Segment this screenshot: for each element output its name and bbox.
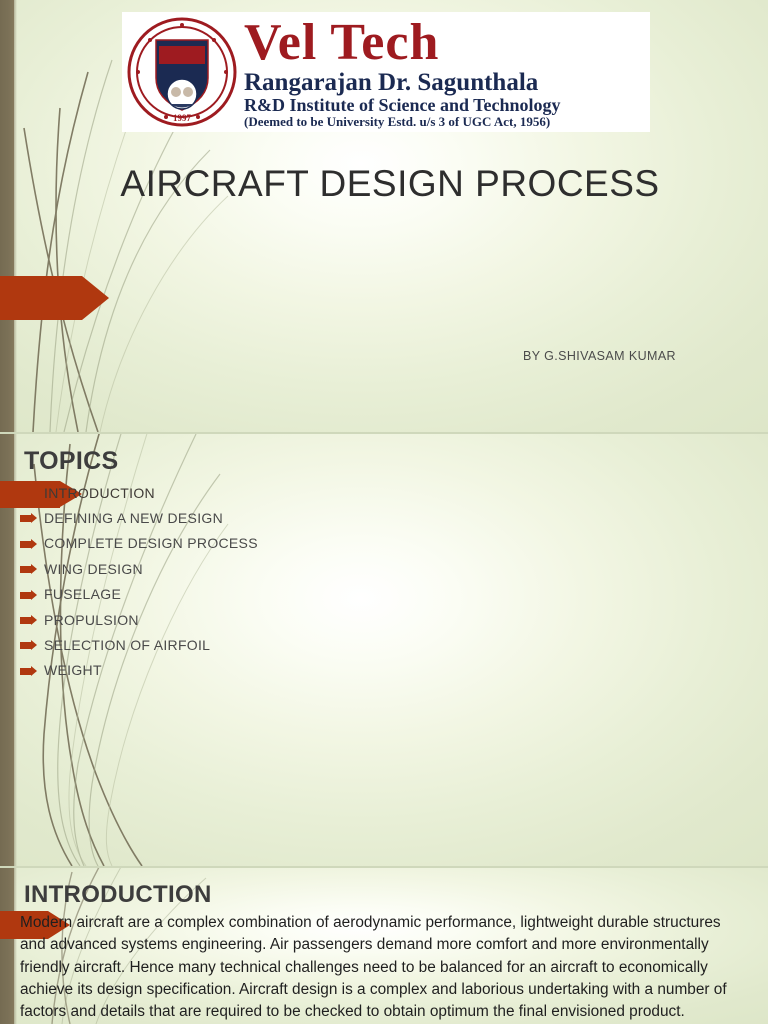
topic-item-selection-of-airfoil[interactable]: SELECTION OF AIRFOIL — [20, 632, 440, 657]
topic-item-fuselage[interactable]: FUSELAGE — [20, 582, 440, 607]
arrow-bullet-icon — [20, 515, 31, 522]
institution-logo: 1997 Vel Tech Rangarajan Dr. Sagunthala … — [122, 12, 650, 132]
topic-label: INTRODUCTION — [44, 485, 155, 501]
logo-institute-line: R&D Institute of Science and Technology — [244, 96, 644, 114]
author-byline: BY G.SHIVASAM KUMAR — [523, 349, 676, 363]
page-title: AIRCRAFT DESIGN PROCESS — [60, 164, 720, 205]
slide-deck: 1997 Vel Tech Rangarajan Dr. Sagunthala … — [0, 0, 768, 1024]
arrow-bullet-icon — [20, 642, 31, 649]
accent-arrow-banner — [0, 276, 82, 320]
arrow-bullet-icon — [20, 668, 31, 675]
vel-tech-seal-icon: 1997 — [126, 16, 238, 128]
topic-label: WEIGHT — [44, 662, 102, 678]
left-accent-bar-shadow — [14, 868, 17, 1024]
logo-title: Vel Tech — [244, 17, 644, 69]
topic-label: PROPULSION — [44, 612, 139, 628]
arrow-bullet-icon — [20, 592, 31, 599]
topic-label: WING DESIGN — [44, 561, 143, 577]
topics-list: INTRODUCTION DEFINING A NEW DESIGN COMPL… — [20, 480, 440, 683]
topic-label: SELECTION OF AIRFOIL — [44, 637, 210, 653]
arrow-bullet-icon — [20, 566, 31, 573]
left-accent-bar-shadow — [14, 0, 17, 432]
topic-label: COMPLETE DESIGN PROCESS — [44, 535, 258, 551]
arrow-bullet-icon — [20, 541, 31, 548]
topic-label: FUSELAGE — [44, 586, 121, 602]
topic-item-complete-design-process[interactable]: COMPLETE DESIGN PROCESS — [20, 531, 440, 556]
logo-subtitle: Rangarajan Dr. Sagunthala — [244, 70, 644, 95]
topic-item-wing-design[interactable]: WING DESIGN — [20, 556, 440, 581]
slide-title: 1997 Vel Tech Rangarajan Dr. Sagunthala … — [0, 0, 768, 432]
topic-item-propulsion[interactable]: PROPULSION — [20, 607, 440, 632]
introduction-body-text: Modern aircraft are a complex combinatio… — [20, 912, 748, 1023]
topic-label: DEFINING A NEW DESIGN — [44, 510, 223, 526]
left-accent-bar — [0, 868, 14, 1024]
svg-text:1997: 1997 — [173, 113, 192, 123]
topic-item-introduction[interactable]: INTRODUCTION — [20, 480, 440, 505]
logo-deemed-line: (Deemed to be University Estd. u/s 3 of … — [244, 115, 644, 128]
topic-item-weight[interactable]: WEIGHT — [20, 658, 440, 683]
introduction-heading: INTRODUCTION — [24, 881, 212, 909]
topics-heading: TOPICS — [24, 447, 118, 476]
left-accent-bar — [0, 0, 14, 432]
arrow-bullet-icon — [20, 617, 31, 624]
topic-item-defining-a-new-design[interactable]: DEFINING A NEW DESIGN — [20, 505, 440, 530]
